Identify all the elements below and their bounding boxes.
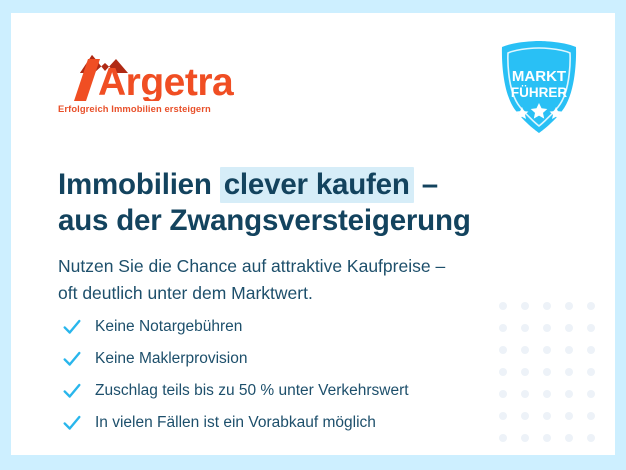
- headline-text-before: Immobilien: [58, 168, 220, 201]
- argetra-logo[interactable]: Argetra Erfolgreich Immobilien ersteiger…: [58, 49, 248, 114]
- benefit-label: In vielen Fällen ist ein Vorabkauf mögli…: [95, 414, 376, 432]
- subheading: Nutzen Sie die Chance auf attraktive Kau…: [58, 253, 445, 307]
- page-title: Immobilien clever kaufen – aus der Zwang…: [58, 167, 471, 239]
- benefits-list: Keine Notargebühren Keine Maklerprovisio…: [61, 311, 409, 439]
- subheading-line-2: oft deutlich unter dem Marktwert.: [58, 280, 445, 307]
- card-canvas: Argetra Erfolgreich Immobilien ersteiger…: [11, 13, 615, 455]
- svg-text:Argetra: Argetra: [98, 61, 234, 101]
- promo-card: Argetra Erfolgreich Immobilien ersteiger…: [0, 0, 626, 470]
- argetra-logotype-icon: Argetra: [58, 49, 248, 101]
- badge-line1: MARKT: [512, 68, 566, 85]
- headline-line-2: aus der Zwangsversteigerung: [58, 203, 471, 239]
- subheading-line-1: Nutzen Sie die Chance auf attraktive Kau…: [58, 253, 445, 280]
- headline-highlight: clever kaufen: [220, 167, 414, 203]
- badge-line2: FÜHRER: [511, 85, 567, 100]
- shield-badge-icon: MARKT FÜHRER: [496, 39, 582, 137]
- headline-text-after: –: [414, 168, 438, 201]
- benefit-label: Keine Notargebühren: [95, 318, 242, 336]
- check-icon: [61, 316, 83, 338]
- dot-grid-decoration: [499, 302, 609, 455]
- benefit-label: Zuschlag teils bis zu 50 % unter Verkehr…: [95, 382, 409, 400]
- list-item: Zuschlag teils bis zu 50 % unter Verkehr…: [61, 375, 409, 407]
- market-leader-badge: MARKT FÜHRER: [496, 39, 582, 137]
- headline-line-1: Immobilien clever kaufen –: [58, 167, 471, 203]
- list-item: Keine Maklerprovision: [61, 343, 409, 375]
- list-item: In vielen Fällen ist ein Vorabkauf mögli…: [61, 407, 409, 439]
- logo-mark: Argetra: [58, 49, 248, 101]
- benefit-label: Keine Maklerprovision: [95, 350, 248, 368]
- check-icon: [61, 412, 83, 434]
- check-icon: [61, 348, 83, 370]
- list-item: Keine Notargebühren: [61, 311, 409, 343]
- logo-tagline: Erfolgreich Immobilien ersteigern: [58, 103, 248, 114]
- check-icon: [61, 380, 83, 402]
